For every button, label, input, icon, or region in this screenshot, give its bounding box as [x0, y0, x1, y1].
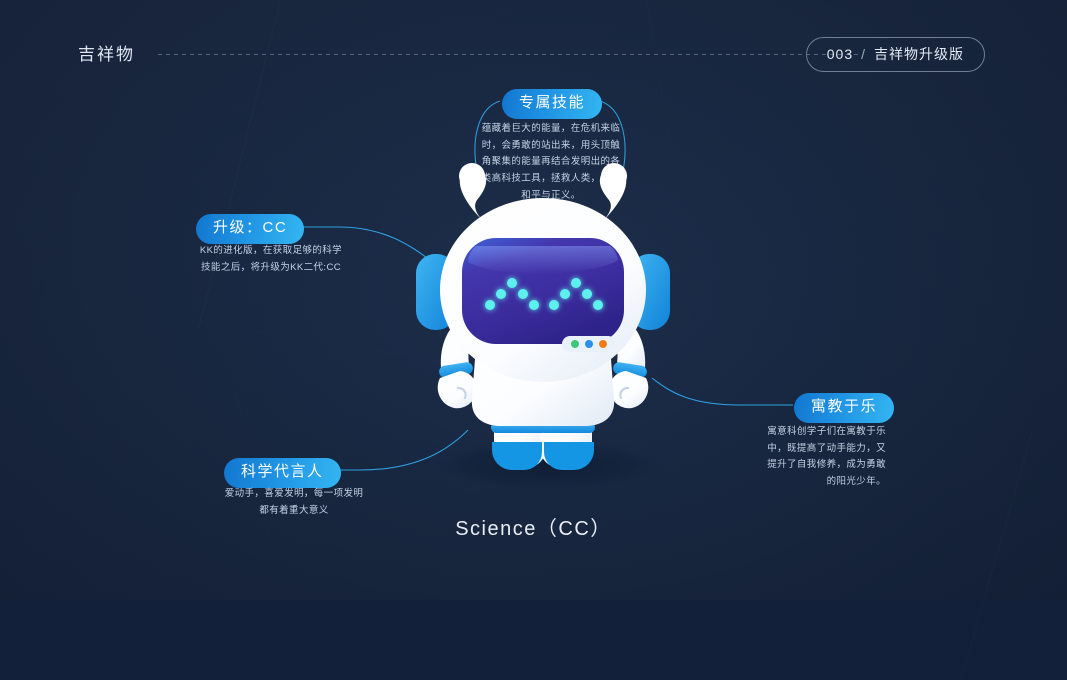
status-dot-orange — [599, 340, 607, 348]
background-diagonal-line — [198, 0, 301, 328]
background-diagonal-line — [640, 0, 672, 158]
callout-title-upgrade[interactable]: 升级：CC — [196, 214, 304, 244]
header-dotted-rule — [158, 54, 858, 55]
slide-subtitle: 吉祥物升级版 — [874, 44, 964, 64]
antenna-right — [600, 163, 627, 222]
callout-title-spokesperson[interactable]: 科学代言人 — [224, 458, 341, 488]
callout-body-upgrade: KK的进化版，在获取足够的科学技能之后，将升级为KK二代:CC — [196, 243, 346, 276]
badge-separator: / — [861, 46, 866, 62]
antenna-left — [459, 163, 486, 222]
callout-title-edutainment[interactable]: 寓教于乐 — [794, 393, 894, 423]
page-title: 吉祥物 — [78, 40, 135, 65]
status-indicator — [562, 336, 616, 352]
callout-body-edutainment: 寓意科创学子们在寓教于乐中，既提高了动手能力，又提升了自我修养，成为勇敢的阳光少… — [766, 424, 886, 491]
mascot-caption: Science（CC） — [0, 512, 1067, 541]
slide-canvas: 吉祥物 003 / 吉祥物升级版 专属技能 蕴藏着巨大的能量，在危机来临时，会勇… — [0, 0, 1067, 600]
mascot-illustration — [398, 150, 688, 500]
status-dot-green — [571, 340, 579, 348]
status-dot-blue — [585, 340, 593, 348]
slide-number-badge: 003 / 吉祥物升级版 — [806, 37, 985, 72]
callout-title-skill[interactable]: 专属技能 — [502, 89, 602, 119]
slide-number: 003 — [827, 46, 853, 62]
background-diagonal-line — [960, 430, 1033, 680]
